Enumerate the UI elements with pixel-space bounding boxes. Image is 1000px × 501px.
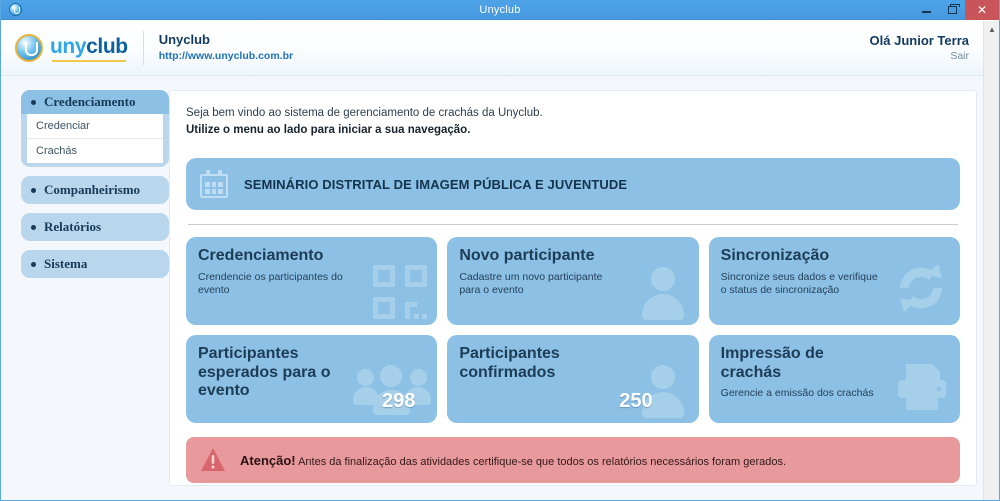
sidebar-group-label: Sistema <box>44 256 87 272</box>
sidebar-submenu-credenciamento: Credenciar Crachás <box>27 114 163 163</box>
card-count: 250 <box>619 390 652 413</box>
card-participantes-esperados[interactable]: Participantes esperados para o evento 29… <box>186 335 437 423</box>
sidebar-group-sistema: Sistema <box>21 250 169 278</box>
application-window: Unyclub ✕ unyclub Unyclub http://www.uny… <box>0 0 1000 501</box>
sidebar-group-credenciamento: Credenciamento Credenciar Crachás <box>21 90 169 167</box>
sidebar-group-companheirismo: Companheirismo <box>21 176 169 204</box>
card-description: Gerencie a emissão dos crachás <box>721 387 886 401</box>
site-name: Unyclub <box>159 31 293 49</box>
restore-icon[interactable] <box>939 0 965 20</box>
warning-alert-strong: Atenção! <box>240 453 296 468</box>
brand-wordmark: unyclub <box>50 35 128 61</box>
vertical-scrollbar[interactable]: ▲ <box>983 21 999 500</box>
close-icon[interactable]: ✕ <box>965 0 999 20</box>
welcome-text-line2: Utilize o menu ao lado para iniciar a su… <box>186 122 960 139</box>
sidebar-group-relatorios: Relatórios <box>21 213 169 241</box>
card-description: Sincronize seus dados e verifique o stat… <box>721 271 886 298</box>
section-divider <box>188 224 958 225</box>
unyclub-logo-icon <box>5 2 25 18</box>
card-title: Impressão de crachás <box>721 345 886 382</box>
sidebar-item-companheirismo[interactable]: Companheirismo <box>21 176 169 204</box>
sidebar: Credenciamento Credenciar Crachás Compan… <box>1 90 169 500</box>
card-novo-participante[interactable]: Novo participante Cadastre um novo parti… <box>447 237 698 325</box>
title-bar: Unyclub ✕ <box>1 0 999 20</box>
user-greeting: Olá Junior Terra <box>870 33 969 48</box>
scroll-up-icon[interactable]: ▲ <box>984 21 1000 37</box>
sync-icon <box>892 262 950 319</box>
sidebar-item-sistema[interactable]: Sistema <box>21 250 169 278</box>
brand-club-text: club <box>86 35 128 58</box>
card-title: Participantes esperados para o evento <box>198 345 363 400</box>
card-title: Novo participante <box>459 247 624 265</box>
logout-link[interactable]: Sair <box>870 50 969 62</box>
card-participantes-confirmados[interactable]: Participantes confirmados 250 <box>447 335 698 423</box>
unyclub-mark-icon <box>15 34 43 62</box>
user-box: Olá Junior Terra Sair <box>870 33 983 62</box>
sidebar-group-label: Credenciamento <box>44 94 135 110</box>
page-body: Credenciamento Credenciar Crachás Compan… <box>1 76 999 500</box>
card-impressao-crachas[interactable]: Impressão de crachás Gerencie a emissão … <box>709 335 960 423</box>
header-divider <box>143 31 144 65</box>
qr-code-icon <box>373 265 427 319</box>
welcome-text-line1: Seja bem vindo ao sistema de gerenciamen… <box>186 105 960 122</box>
minimize-icon[interactable] <box>913 0 939 20</box>
sidebar-group-label: Relatórios <box>44 219 101 235</box>
site-info: Unyclub http://www.unyclub.com.br <box>159 31 293 63</box>
sidebar-item-credenciamento[interactable]: Credenciamento <box>21 90 169 114</box>
calendar-icon <box>200 170 228 198</box>
event-title: SEMINÁRIO DISTRITAL DE IMAGEM PÚBLICA E … <box>244 177 627 192</box>
card-count: 298 <box>382 390 415 413</box>
bullet-icon <box>31 262 36 267</box>
event-banner[interactable]: SEMINÁRIO DISTRITAL DE IMAGEM PÚBLICA E … <box>186 158 960 210</box>
sidebar-group-label: Companheirismo <box>44 182 140 198</box>
bullet-icon <box>31 100 36 105</box>
card-title: Sincronização <box>721 247 886 265</box>
user-icon <box>637 267 689 319</box>
card-sincronizacao[interactable]: Sincronização Sincronize seus dados e ve… <box>709 237 960 325</box>
bullet-icon <box>31 188 36 193</box>
card-credenciamento[interactable]: Credenciamento Crendencie os participant… <box>186 237 437 325</box>
printer-icon <box>894 362 950 417</box>
bullet-icon <box>31 225 36 230</box>
card-title: Participantes confirmados <box>459 345 624 382</box>
sidebar-item-relatorios[interactable]: Relatórios <box>21 213 169 241</box>
sidebar-item-crachas[interactable]: Crachás <box>27 139 163 163</box>
brand-uny-text: uny <box>50 35 86 58</box>
brand-logo[interactable]: unyclub <box>15 34 128 62</box>
site-url[interactable]: http://www.unyclub.com.br <box>159 49 293 64</box>
sidebar-item-credenciar[interactable]: Credenciar <box>27 114 163 139</box>
warning-alert-text: Atenção! Antes da finalização das ativid… <box>240 453 786 468</box>
window-title: Unyclub <box>1 4 999 16</box>
dashboard-card-grid: Credenciamento Crendencie os participant… <box>186 237 960 423</box>
app-header: unyclub Unyclub http://www.unyclub.com.b… <box>1 20 999 76</box>
main-content-panel: Seja bem vindo ao sistema de gerenciamen… <box>169 90 977 486</box>
card-title: Credenciamento <box>198 247 363 265</box>
warning-alert: Atenção! Antes da finalização das ativid… <box>186 437 960 483</box>
warning-alert-body: Antes da finalização das atividades cert… <box>298 456 786 468</box>
window-controls: ✕ <box>913 0 999 20</box>
warning-triangle-icon <box>200 447 226 473</box>
card-description: Crendencie os participantes do evento <box>198 271 363 298</box>
card-description: Cadastre um novo participante para o eve… <box>459 271 624 298</box>
